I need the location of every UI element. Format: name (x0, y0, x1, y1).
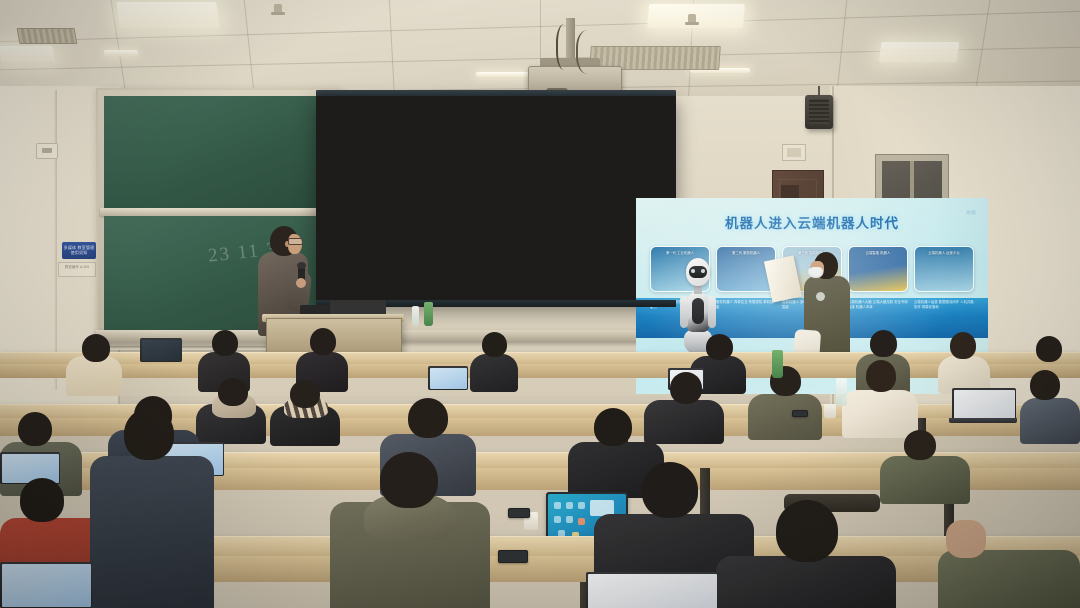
wall-conduit (54, 90, 57, 390)
phone[interactable] (792, 410, 808, 417)
app-icon[interactable] (578, 502, 585, 509)
laptop-screen (428, 366, 468, 390)
sprinkler-head (274, 4, 282, 14)
person-head (380, 452, 438, 508)
slide-card: 云端智能 机器人 (848, 246, 908, 292)
paper-cup (824, 404, 836, 418)
laptop[interactable] (140, 338, 180, 362)
person-torso (716, 556, 896, 608)
laptop[interactable] (428, 366, 466, 390)
person-torso (938, 550, 1080, 608)
person-head (212, 330, 238, 356)
slide-band-column: 云端机器人大脑 云端大脑控制 安全专网连接 机器人本体 (848, 300, 908, 310)
person-head (1030, 370, 1060, 400)
person-head (950, 332, 976, 359)
ceiling-light-tube (476, 72, 530, 77)
desk-front-panel (0, 364, 1080, 378)
lecture-hall-photo: 多媒体 教室管理 使用须知 教室编号 A-305 23 11 3 机器人进入云端… (0, 0, 1080, 608)
app-icon[interactable] (566, 516, 573, 523)
phone[interactable] (498, 550, 528, 563)
person-torso (90, 456, 214, 608)
audience-person (66, 334, 122, 394)
audience-person (716, 500, 896, 608)
chalkboard-upper-panel (104, 96, 332, 208)
app-icon[interactable] (554, 502, 561, 509)
app-icon[interactable] (578, 518, 585, 525)
robot-neck (694, 285, 702, 294)
person-head (642, 462, 698, 518)
person-head (290, 380, 320, 408)
person-head (946, 520, 986, 558)
jacket-logo (816, 292, 825, 301)
person-head (866, 360, 896, 392)
slide-logo: 达闼 (966, 210, 976, 216)
chalkboard-center-rail (100, 208, 336, 216)
laptop-keyboard[interactable] (949, 418, 1017, 423)
slide-card-caption: 云端机器人 运营平台 (917, 251, 971, 255)
person-head (482, 332, 507, 357)
water-bottle (412, 306, 419, 326)
person-head (20, 478, 64, 522)
room-number-sign: 教室编号 A-305 (58, 262, 96, 277)
person-head (594, 408, 632, 446)
audience-person (330, 452, 490, 608)
laptop-screen (0, 562, 92, 608)
person-torso (880, 456, 970, 504)
person-torso (748, 394, 822, 440)
presenter-glasses (288, 238, 303, 245)
person-torso (1020, 398, 1080, 444)
person-head (18, 412, 52, 446)
person-head (218, 378, 248, 406)
person-torso (66, 356, 122, 396)
person-head (124, 408, 174, 460)
laptop-screen (140, 338, 182, 362)
ceiling-light-panel (879, 42, 960, 62)
audience-person (748, 366, 822, 434)
app-icon[interactable] (554, 516, 561, 523)
laptop[interactable] (0, 562, 90, 608)
person-head (670, 372, 702, 404)
person-head (1036, 336, 1062, 362)
sprinkler-head (688, 14, 696, 24)
person-head (904, 430, 936, 460)
slide-title: 机器人进入云端机器人时代 (636, 212, 988, 232)
person-head (706, 334, 733, 360)
ceiling-air-vent (17, 28, 78, 44)
robot-eye (691, 269, 695, 273)
robot-right-arm (708, 296, 716, 328)
app-icon[interactable] (566, 502, 573, 509)
person-head (870, 330, 897, 357)
wall-control-plate (782, 144, 806, 161)
audience-person (470, 332, 518, 390)
person-head (408, 398, 448, 438)
ceiling-light-panel (116, 2, 220, 28)
person-head (776, 500, 838, 562)
slide-card-caption: 云端智能 机器人 (851, 251, 905, 255)
audience-person (938, 332, 990, 392)
face-mask (808, 267, 823, 278)
person-head (310, 328, 336, 355)
wall-notice-sign-text: 多媒体 教室管理 使用须知 (62, 246, 96, 255)
person-head (82, 334, 110, 362)
slide-card-caption: 第一代 工业机器人 (653, 251, 707, 255)
laptop-screen (586, 572, 718, 608)
water-bottle (836, 378, 847, 406)
audience-person (842, 360, 918, 432)
slide-card-caption: 第二代 服务机器人 (719, 251, 773, 255)
slide-band-column: 云端机器人运营 数据驱动闭环 人机共融协作 规模化落地 (914, 300, 974, 310)
audience-person (270, 380, 340, 438)
audience-person (90, 408, 214, 608)
projector-cable (576, 30, 604, 74)
presenter-hand (296, 278, 306, 288)
laptop[interactable] (952, 388, 1014, 422)
projection-screen: 机器人进入云端机器人时代 达闼 第一代 工业机器人 第二代 服务机器人 第三代 … (316, 96, 676, 304)
power-outlet (36, 143, 58, 159)
green-drink-bottle (772, 350, 783, 378)
wall-notice-sign: 多媒体 教室管理 使用须知 (62, 242, 96, 259)
thermos-bottle (424, 302, 433, 326)
audience-person (880, 430, 970, 500)
laptop[interactable] (586, 572, 716, 608)
room-number-text: 教室编号 A-305 (59, 263, 95, 270)
robot-chest-panel (692, 298, 704, 324)
slide-band-column: 服务机器人 简单交互 有限感知 单机智能 (716, 300, 776, 310)
laptop-screen (952, 388, 1016, 420)
robot-left-arm (680, 296, 688, 328)
person-torso (470, 354, 518, 392)
audience-person (1020, 370, 1080, 440)
wall-speaker (805, 95, 833, 129)
projector-cable (556, 24, 576, 70)
phone[interactable] (508, 508, 530, 518)
robot-eye (701, 269, 705, 273)
ceiling-light-panel (0, 46, 55, 62)
chalk-tray (96, 330, 716, 342)
audience-person (938, 520, 1080, 608)
slide-card: 云端机器人 运营平台 (914, 246, 974, 292)
ceiling-light-tube (104, 50, 139, 56)
